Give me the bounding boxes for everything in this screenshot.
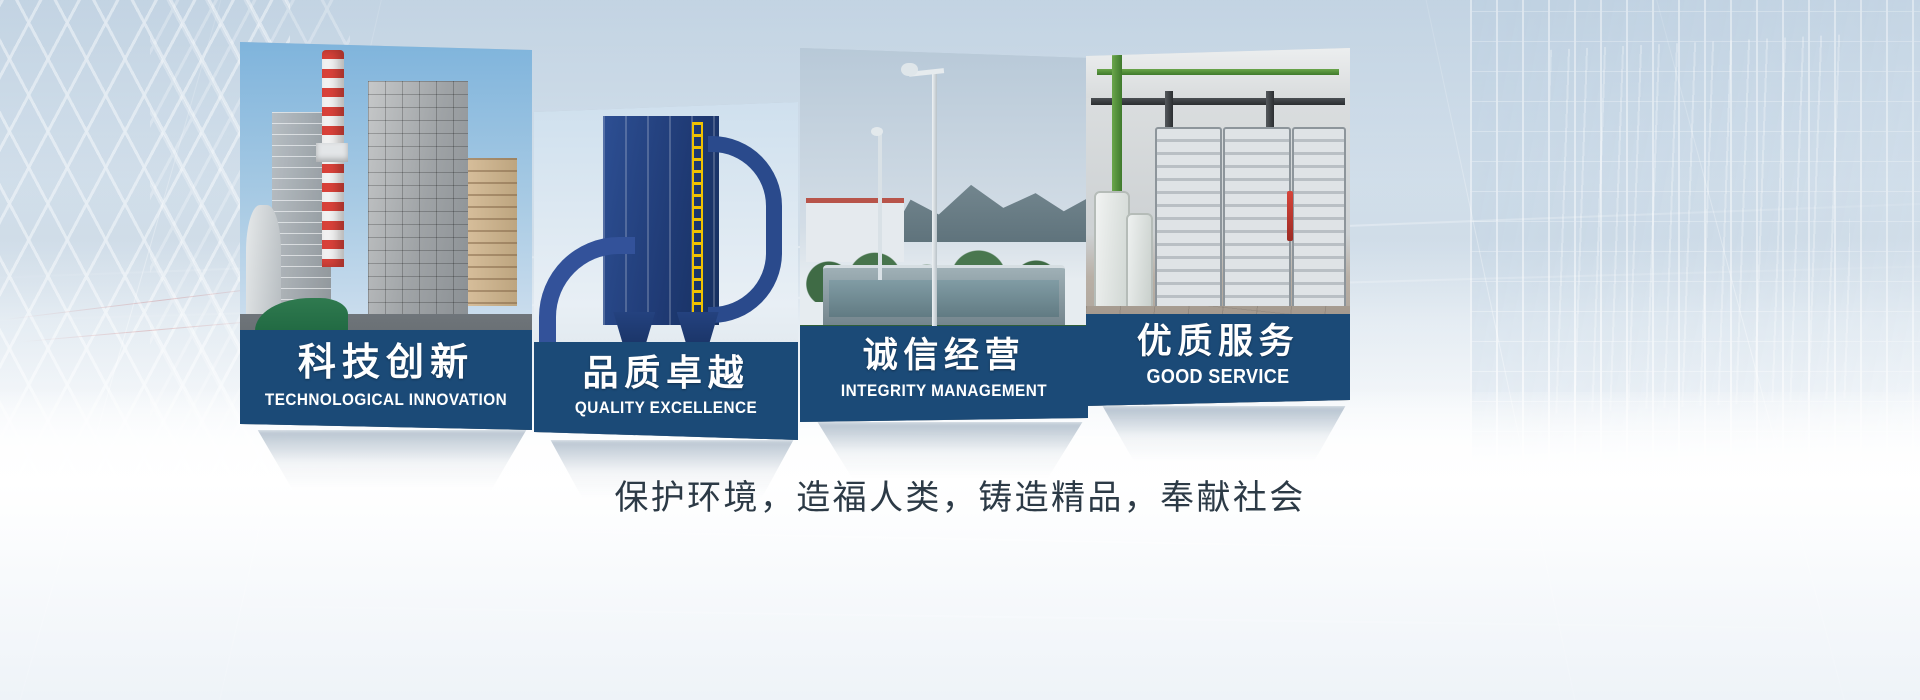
panel-deck: 科技创新 TECHNOLOGICAL INNOVATION 品质卓越 QUALI… (0, 0, 1920, 700)
caption-integrity-management: 诚信经营 INTEGRITY MANAGEMENT (800, 326, 1088, 422)
caption-en-text: QUALITY EXCELLENCE (547, 398, 785, 418)
caption-quality-excellence: 品质卓越 QUALITY EXCELLENCE (534, 342, 798, 440)
panel-integrity-management[interactable]: 诚信经营 INTEGRITY MANAGEMENT (800, 48, 1088, 422)
caption-cn-text: 诚信经营 (800, 338, 1088, 375)
caption-good-service: 优质服务 GOOD SERVICE (1086, 314, 1350, 406)
panel-good-service[interactable]: 优质服务 GOOD SERVICE (1086, 48, 1350, 406)
caption-en-text: INTEGRITY MANAGEMENT (814, 381, 1073, 401)
corporate-culture-banner: 科技创新 TECHNOLOGICAL INNOVATION 品质卓越 QUALI… (0, 0, 1920, 700)
panel-reflection (1092, 406, 1356, 462)
caption-en-text: TECHNOLOGICAL INNOVATION (255, 390, 518, 410)
panel-quality-excellence[interactable]: 品质卓越 QUALITY EXCELLENCE (534, 102, 798, 440)
panel-technological-innovation[interactable]: 科技创新 TECHNOLOGICAL INNOVATION (240, 42, 532, 430)
caption-en-text: GOOD SERVICE (1099, 366, 1337, 389)
caption-technological-innovation: 科技创新 TECHNOLOGICAL INNOVATION (240, 330, 532, 430)
company-slogan: 保护环境，造福人类，铸造精品，奉献社会 (0, 470, 1920, 519)
caption-cn-text: 科技创新 (240, 344, 532, 384)
caption-cn-text: 品质卓越 (534, 354, 798, 392)
caption-cn-text: 优质服务 (1086, 324, 1350, 361)
